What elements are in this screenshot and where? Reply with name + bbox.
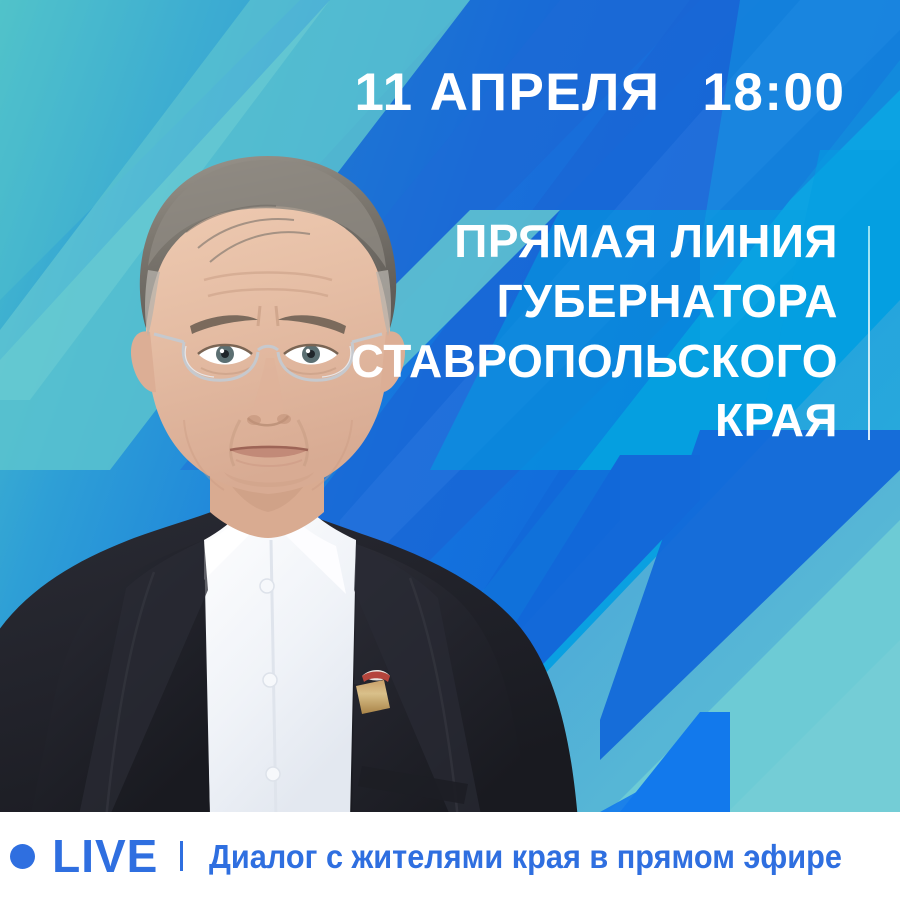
- live-broadcast-poster: 11 АПРЕЛЯ18:00 ПРЯМАЯ ЛИНИЯ ГУБЕРНАТОРА …: [0, 0, 900, 900]
- headline-line-2: ГУБЕРНАТОРА: [218, 272, 838, 332]
- headline-line-3: СТАВРОПОЛЬСКОГО: [218, 332, 838, 392]
- broadcast-date: 11 АПРЕЛЯ: [355, 63, 661, 122]
- page-title: ПРЯМАЯ ЛИНИЯ ГУБЕРНАТОРА СТАВРОПОЛЬСКОГО…: [218, 212, 838, 451]
- live-dot-icon: [10, 844, 35, 869]
- vertical-accent-rule: [868, 226, 870, 440]
- headline-line-4: КРАЯ: [218, 391, 838, 451]
- live-footer-bar: LIVE Диалог с жителями края в прямом эфи…: [0, 812, 900, 900]
- headline-line-1: ПРЯМАЯ ЛИНИЯ: [218, 212, 838, 272]
- footer-separator: [180, 841, 183, 871]
- broadcast-datetime: 11 АПРЕЛЯ18:00: [340, 66, 860, 119]
- footer-tagline: Диалог с жителями края в прямом эфире: [209, 840, 842, 873]
- live-label: LIVE: [52, 833, 158, 879]
- broadcast-time: 18:00: [702, 63, 845, 122]
- live-badge: LIVE: [10, 833, 158, 879]
